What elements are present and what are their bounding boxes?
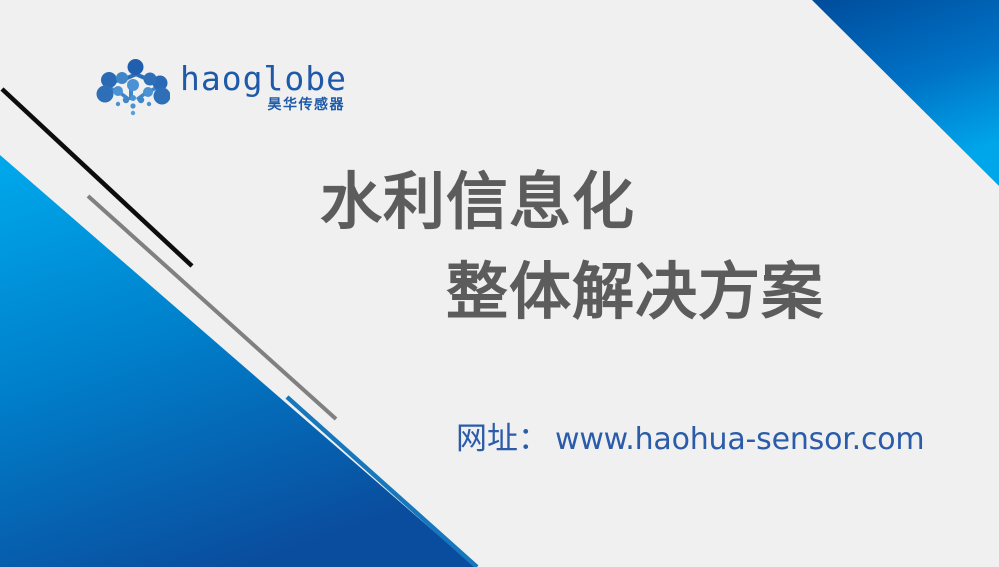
page-title-line-1: 水利信息化	[320, 168, 635, 236]
title-slide: haoglobe 昊华传感器 水利信息化 整体解决方案 网址： www.haoh…	[0, 0, 999, 567]
website-line: 网址： www.haohua-sensor.com	[456, 420, 924, 459]
page-title-line-2: 整体解决方案	[446, 258, 824, 326]
logo-chinese-name: 昊华传感器	[267, 97, 345, 113]
haoglobe-network-logo-icon	[96, 58, 170, 116]
top-right-blue-triangle	[812, 0, 999, 186]
logo-wordmark: haoglobe	[180, 62, 347, 96]
website-label: 网址：	[456, 420, 549, 458]
logo-text-group: haoglobe 昊华传感器	[180, 58, 347, 113]
company-logo: haoglobe 昊华传感器	[96, 58, 347, 116]
website-url[interactable]: www.haohua-sensor.com	[555, 421, 924, 459]
